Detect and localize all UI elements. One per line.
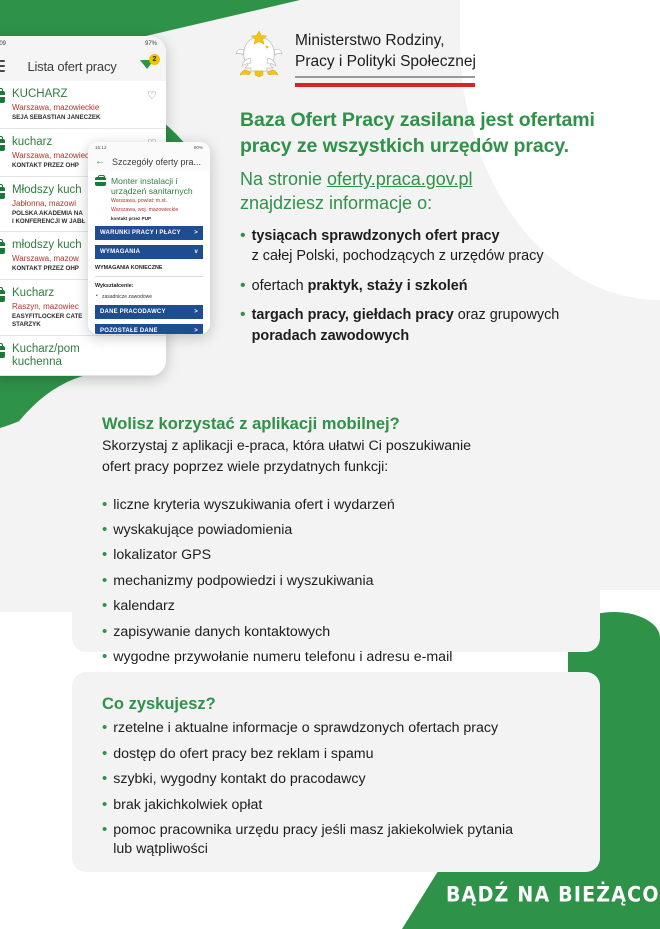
requirements-item: zasadnicze zawodowe (95, 294, 203, 300)
arrow-left-icon[interactable]: ← (95, 157, 105, 167)
card-mobile-lead-1: Skorzystaj z aplikacji e-praca, która uł… (102, 437, 570, 456)
top-bullet-3-suffix: oraz grupowych (454, 307, 560, 323)
phone2-title: Szczegóły oferty pra... (112, 157, 201, 167)
briefcase-icon (0, 290, 5, 302)
section-warunki-pracy[interactable]: WARUNKI PRACY I PŁACY > (95, 226, 203, 240)
list-item: •wyskakujące powiadomienia (102, 521, 570, 539)
job-list-row[interactable]: KUCHARZ Warszawa, mazowieckie SEJA SEBAS… (0, 81, 166, 129)
list-item-label: wyskakujące powiadomienia (113, 521, 292, 539)
chevron-right-icon: > (194, 328, 198, 334)
oferty-praca-gov-pl-link[interactable]: oferty.praca.gov.pl (327, 169, 472, 189)
poster-root: BĄDŹ NA BIEŻĄCO! Ministerstwo Rodziny, P… (0, 0, 660, 929)
filter-badge: 2 (149, 54, 160, 65)
phone2-status-battery: 90% (194, 145, 203, 150)
ministry-rule-gray (295, 76, 475, 78)
briefcase-icon (0, 91, 5, 103)
card-mobile-app: Wolisz korzystać z aplikacji mobilnej? S… (72, 392, 600, 652)
phone1-title: Lista ofert pracy (13, 59, 131, 74)
bullet-dot-icon: • (102, 623, 107, 641)
job-title-cont: kuchenna (12, 356, 158, 369)
banner-text: BĄDŹ NA BIEŻĄCO! (446, 883, 660, 908)
phone1-status-time: 13:09 (0, 41, 6, 47)
phone1-status-battery: 97% (145, 41, 157, 47)
hamburger-menu-icon[interactable] (0, 57, 5, 75)
section-wymagania[interactable]: WYMAGANIA v (95, 245, 203, 259)
top-bullet-1-line2: z całej Polski, pochodzących z urzędów p… (252, 248, 544, 264)
top-bullet-item-3: • targach pracy, giełdach pracy oraz gru… (240, 305, 650, 346)
section-label: WYMAGANIA (100, 249, 140, 255)
card-benefits: Co zyskujesz? •rzetelne i aktualne infor… (72, 672, 600, 872)
list-item-label: zapisywanie danych kontaktowych (113, 623, 330, 641)
briefcase-icon (0, 346, 5, 358)
list-item: •szybki, wygodny kontakt do pracodawcy (102, 770, 570, 788)
phone1-app-bar: Lista ofert pracy 2 (0, 51, 166, 81)
offer-location-line-2: Warszawa, woj. mazowieckie (111, 207, 193, 214)
list-item-label: liczne kryteria wyszukiwania ofert i wyd… (113, 496, 395, 514)
headline-block: Baza Ofert Pracy zasilana jest ofertami … (240, 108, 640, 216)
list-item-label: szybki, wygodny kontakt do pracodawcy (113, 770, 365, 788)
section-label: POZOSTAŁE DANE (100, 328, 158, 334)
card-benefits-list: •rzetelne i aktualne informacje o sprawd… (102, 719, 570, 858)
phone1-status-bar: 13:09 97% (0, 36, 166, 51)
bullet-dot-icon: • (102, 719, 107, 737)
list-item: •zapisywanie danych kontaktowych (102, 623, 570, 641)
top-bullet-1-bold: tysiącach sprawdzonych ofert pracy (252, 228, 500, 244)
headline-sub-suffix: znajdziesz informacje o: (240, 192, 640, 216)
filter-funnel-icon[interactable]: 2 (139, 57, 157, 75)
list-item: •brak jakichkolwiek opłat (102, 796, 570, 814)
section-dane-pracodawcy[interactable]: DANE PRACODAWCY > (95, 305, 203, 319)
ministry-line-2: Pracy i Polityki Społecznej (295, 52, 476, 73)
offer-header: Monter instalacji i urządzeń sanitarnych… (95, 176, 203, 221)
list-item-label-cont: lub wątpliwości (113, 841, 208, 857)
briefcase-icon (0, 187, 5, 199)
card-mobile-lead-2: ofert pracy poprzez wiele przydatnych fu… (102, 458, 570, 477)
list-item: •mechanizmy podpowiedzi i wyszukiwania (102, 572, 570, 590)
bullet-dot-icon: • (102, 821, 107, 858)
bullet-dot-icon: • (240, 305, 246, 346)
list-item-label: pomoc pracownika urzędu pracy jeśli masz… (113, 822, 513, 838)
favorite-heart-icon[interactable]: ♡ (147, 91, 158, 102)
bullet-dot-icon: • (102, 597, 107, 615)
section-label: DANE PRACODAWCY (100, 309, 166, 315)
list-item: •liczne kryteria wyszukiwania ofert i wy… (102, 496, 570, 514)
offer-contact-note: kontakt przez PUP (111, 216, 193, 221)
phone2-status-time: 15:12 (95, 145, 107, 150)
list-item: •rzetelne i aktualne informacje o sprawd… (102, 719, 570, 737)
top-bullet-2-prefix: ofertach (252, 278, 308, 294)
chevron-down-icon: v (194, 249, 198, 255)
bullet-dot-icon: • (240, 276, 246, 296)
offer-location-line-1: Warszawa, powiat: m.st. (111, 198, 193, 205)
job-location: Warszawa, mazowieckie (12, 103, 140, 112)
bullet-dot-icon: • (102, 648, 107, 666)
card-mobile-title: Wolisz korzystać z aplikacji mobilnej? (102, 414, 570, 435)
ministry-name: Ministerstwo Rodziny, Pracy i Polityki S… (295, 28, 476, 87)
list-item: •lokalizator GPS (102, 546, 570, 564)
job-title: Kucharz/pom (12, 343, 158, 356)
phone2-status-bar: 15:12 90% (88, 142, 210, 153)
polish-eagle-emblem (234, 28, 284, 82)
briefcase-icon (0, 242, 5, 254)
job-employer: SEJA SEBASTIAN JANECZEK (12, 114, 140, 122)
headline-sub-prefix: Na stronie (240, 169, 327, 189)
top-bullet-2-bold: praktyk, staży i szkoleń (308, 278, 468, 294)
list-item-label: kalendarz (113, 597, 175, 615)
card-benefits-title: Co zyskujesz? (102, 694, 570, 715)
bullet-dot-icon: • (240, 226, 246, 267)
list-item-label: dostęp do ofert pracy bez reklam i spamu (113, 745, 373, 763)
headline-main-line-1: Baza Ofert Pracy zasilana jest ofertami (240, 108, 640, 134)
requirements-subheader: Wykształcenie: (95, 283, 203, 289)
list-item: • pomoc pracownika urzędu pracy jeśli ma… (102, 821, 570, 858)
top-bullet-3-line2: poradach zawodowych (252, 328, 410, 344)
requirements-header: WYMAGANIA KONIECZNE (95, 265, 203, 271)
section-label: WARUNKI PRACY I PŁACY (100, 230, 181, 236)
briefcase-icon (95, 177, 106, 186)
list-item: •dostęp do ofert pracy bez reklam i spam… (102, 745, 570, 763)
list-item-label: wygodne przywołanie numeru telefonu i ad… (113, 648, 452, 666)
card-mobile-list: •liczne kryteria wyszukiwania ofert i wy… (102, 496, 570, 667)
bullet-dot-icon: • (102, 496, 107, 514)
list-item-label: brak jakichkolwiek opłat (113, 796, 262, 814)
top-bullet-list: • tysiącach sprawdzonych ofert pracy z c… (240, 226, 650, 355)
phone2-app-bar: ← Szczegóły oferty pra... (88, 153, 210, 171)
top-bullet-3-bold: targach pracy, giełdach pracy (252, 307, 454, 323)
bullet-dot-icon: • (102, 572, 107, 590)
bullet-dot-icon: • (102, 521, 107, 539)
ministry-line-1: Ministerstwo Rodziny, (295, 31, 476, 52)
list-item-label: lokalizator GPS (113, 546, 211, 564)
chevron-right-icon: > (194, 309, 198, 315)
bullet-dot-icon: • (102, 770, 107, 788)
job-title: KUCHARZ (12, 88, 140, 101)
top-bullet-item-2: • ofertach praktyk, staży i szkoleń (240, 276, 650, 296)
bullet-dot-icon: • (102, 546, 107, 564)
bullet-dot-icon: • (102, 745, 107, 763)
list-item: •kalendarz (102, 597, 570, 615)
headline-sub: Na stronie oferty.praca.gov.pl znajdzies… (240, 168, 640, 216)
divider (95, 276, 203, 277)
job-list-row[interactable]: Kucharz/pom kuchenna (0, 336, 166, 376)
offer-title-line-1: Monter instalacji i (111, 176, 193, 186)
briefcase-icon (0, 139, 5, 151)
bullet-dot-icon: • (102, 796, 107, 814)
ministry-logo: Ministerstwo Rodziny, Pracy i Polityki S… (234, 28, 476, 87)
top-bullet-item-1: • tysiącach sprawdzonych ofert pracy z c… (240, 226, 650, 267)
headline-main-line-2: pracy ze wszystkich urzędów pracy. (240, 134, 640, 160)
list-item: •wygodne przywołanie numeru telefonu i a… (102, 648, 570, 666)
section-pozostale-dane[interactable]: POZOSTAŁE DANE > (95, 324, 203, 334)
offer-title-line-2: urządzeń sanitarnych (111, 186, 193, 196)
list-item-label: rzetelne i aktualne informacje o sprawdz… (113, 719, 498, 737)
phone2-body: Monter instalacji i urządzeń sanitarnych… (88, 171, 210, 334)
phone-mockup-offer-detail: 15:12 90% ← Szczegóły oferty pra... Mont… (88, 142, 210, 334)
chevron-right-icon: > (194, 230, 198, 236)
list-item-label: mechanizmy podpowiedzi i wyszukiwania (113, 572, 373, 590)
ministry-rule-red (295, 83, 475, 87)
